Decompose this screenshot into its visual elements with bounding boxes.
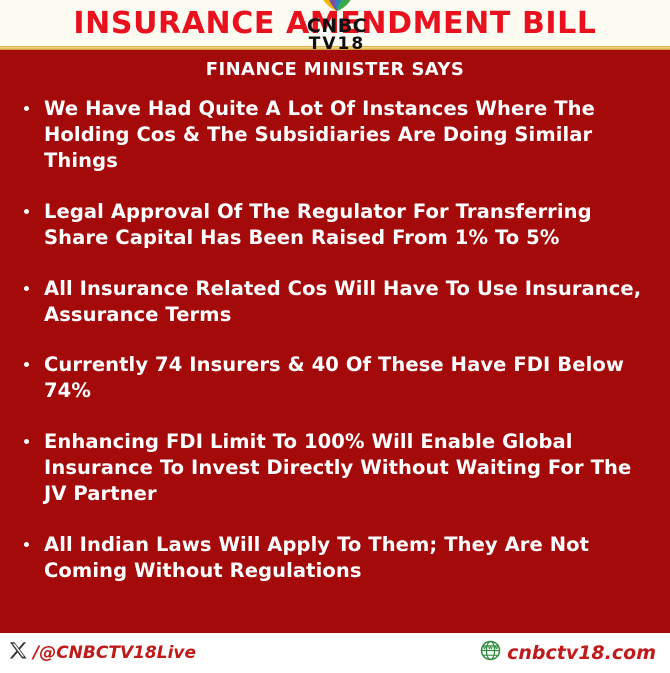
list-item: Currently 74 Insurers & 40 Of These Have… bbox=[20, 352, 656, 404]
twitter-handle[interactable]: /@CNBCTV18Live bbox=[33, 643, 196, 663]
list-item: Enhancing FDI Limit To 100% Will Enable … bbox=[20, 429, 656, 507]
content-area: FINANCE MINISTER SAYS We Have Had Quite … bbox=[0, 50, 670, 633]
logo-text-tv18: TV18 bbox=[296, 36, 378, 54]
website-group: www cnbctv18.com bbox=[386, 640, 670, 666]
x-twitter-icon[interactable] bbox=[8, 640, 30, 667]
list-item: All Indian Laws Will Apply To Them; They… bbox=[20, 532, 656, 584]
website-url[interactable]: cnbctv18.com bbox=[507, 642, 656, 664]
cnbc-tv18-logo: CNBC TV18 bbox=[296, 0, 378, 54]
list-item: We Have Had Quite A Lot Of Instances Whe… bbox=[20, 96, 656, 174]
news-graphic-card: INSURANCE AMENDMENT BILL FINANCE MINISTE… bbox=[0, 0, 670, 673]
list-item: Legal Approval Of The Regulator For Tran… bbox=[20, 199, 656, 251]
list-item: All Insurance Related Cos Will Have To U… bbox=[20, 276, 656, 328]
www-globe-icon: www bbox=[480, 640, 501, 666]
social-handle-group: /@CNBCTV18Live bbox=[0, 640, 278, 667]
svg-text:www: www bbox=[483, 645, 499, 651]
footer-bar: /@CNBCTV18Live www cnbctv18.com bbox=[0, 633, 670, 673]
subtitle: FINANCE MINISTER SAYS bbox=[0, 50, 670, 84]
bullet-list: We Have Had Quite A Lot Of Instances Whe… bbox=[0, 84, 670, 584]
